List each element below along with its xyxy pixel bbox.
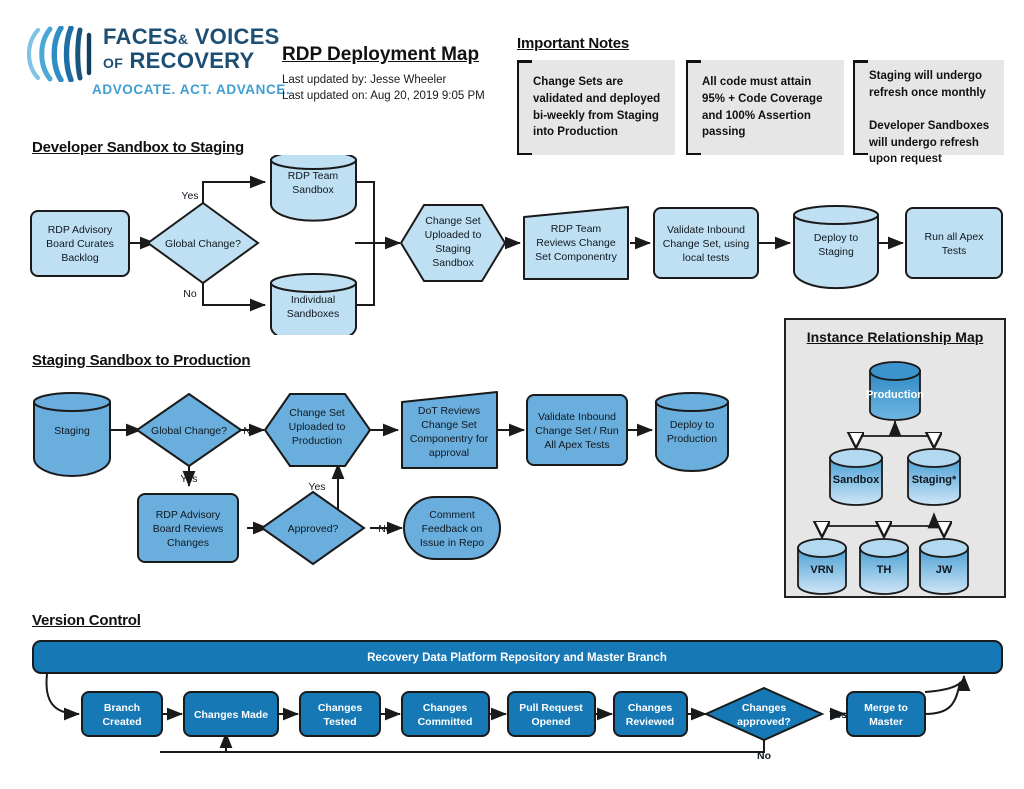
node-label: Validate Inbound xyxy=(667,224,745,236)
vc-node-label: Changes xyxy=(742,702,787,714)
svg-text:Master: Master xyxy=(869,716,903,728)
vc-node-label: Changes xyxy=(628,702,673,714)
last-updated-on: Last updated on: Aug 20, 2019 9:05 PM xyxy=(282,88,485,105)
logo-icon xyxy=(24,26,96,82)
node-rdp-team-sandbox[interactable]: RDP Team Sandbox xyxy=(271,155,356,221)
last-updated-by: Last updated by: Jesse Wheeler xyxy=(282,72,446,89)
svg-text:Created: Created xyxy=(102,716,141,728)
svg-text:Set Componentry: Set Componentry xyxy=(535,251,617,263)
vc-node-label: Changes Made xyxy=(194,709,268,721)
node-label: Approved? xyxy=(288,523,339,535)
svg-text:Production: Production xyxy=(667,433,717,445)
irm-node-vrn[interactable]: VRN xyxy=(798,539,846,594)
svg-text:local tests: local tests xyxy=(683,252,730,264)
edge-label-yes: Yes xyxy=(308,481,325,493)
vc-repo-bar[interactable]: Recovery Data Platform Repository and Ma… xyxy=(33,641,1002,673)
node-approved-decision[interactable]: Approved? xyxy=(262,492,364,564)
irm-node-label: Sandbox xyxy=(833,474,880,486)
node-validate-inbound-change-set[interactable]: Validate Inbound Change Set, using local… xyxy=(654,208,758,278)
page-title: RDP Deployment Map xyxy=(282,44,479,66)
svg-text:Staging: Staging xyxy=(435,243,471,255)
node-label: Deploy to xyxy=(814,232,859,244)
vc-node-changes-made[interactable]: Changes Made xyxy=(184,692,278,736)
svg-text:Change Set: Change Set xyxy=(421,419,477,431)
vc-edge-label-yes: Yes xyxy=(829,709,847,721)
svg-text:Changes: Changes xyxy=(167,537,209,549)
node-label: RDP Team xyxy=(551,223,602,235)
section1-flow: RDP Advisory Board Curates Backlog Globa… xyxy=(0,155,1024,335)
svg-text:Issue in Repo: Issue in Repo xyxy=(420,537,484,549)
node-change-set-uploaded-to-staging-sandbox[interactable]: Change Set Uploaded to Staging Sandbox xyxy=(401,205,505,281)
vc-node-changes-approved-decision[interactable]: Changes approved? xyxy=(706,688,822,740)
svg-text:Reviewed: Reviewed xyxy=(626,716,674,728)
irm-node-label: Staging* xyxy=(912,474,957,486)
node-individual-sandboxes[interactable]: Individual Sandboxes xyxy=(271,274,356,335)
vc-edge-label-no: No xyxy=(757,750,771,762)
note-card: All code must attain 95% + Code Coverage… xyxy=(686,60,844,155)
section-title-staging-sandbox-to-production: Staging Sandbox to Production xyxy=(32,352,250,369)
irm-node-label: VRN xyxy=(810,564,833,576)
vc-node-label: Changes xyxy=(318,702,363,714)
logo-faces: FACES xyxy=(103,24,178,49)
svg-text:approved?: approved? xyxy=(737,716,791,728)
irm-node-label: TH xyxy=(877,564,892,576)
logo-wordmark: FACES& VOICES OF RECOVERY xyxy=(103,26,293,73)
section2-flow: Staging Global Change? No Yes Change Set… xyxy=(0,372,780,597)
svg-text:Board Curates: Board Curates xyxy=(46,238,114,250)
svg-text:Sandbox: Sandbox xyxy=(292,184,334,196)
vc-node-changes-tested[interactable]: Changes Tested xyxy=(300,692,380,736)
edge-label-no: No xyxy=(378,523,392,535)
svg-text:Staging: Staging xyxy=(818,246,854,258)
note-text: Staging will undergo refresh once monthl… xyxy=(853,60,1004,155)
irm-node-sandbox[interactable]: Sandbox xyxy=(830,449,882,505)
svg-text:Uploaded to: Uploaded to xyxy=(289,421,346,433)
version-control-flow: Recovery Data Platform Repository and Ma… xyxy=(0,632,1024,787)
node-label: Global Change? xyxy=(165,238,241,250)
node-label: Global Change? xyxy=(151,425,227,437)
svg-text:Componentry for: Componentry for xyxy=(410,433,489,445)
node-label: Validate Inbound xyxy=(538,411,616,423)
svg-text:Change Set, using: Change Set, using xyxy=(663,238,750,250)
edge-label-yes: Yes xyxy=(181,190,198,202)
note-card: Staging will undergo refresh once monthl… xyxy=(853,60,1004,155)
svg-text:Opened: Opened xyxy=(531,716,570,728)
node-label: Run all Apex xyxy=(925,231,985,243)
logo-recovery: RECOVERY xyxy=(129,48,254,73)
note-text: All code must attain 95% + Code Coverage… xyxy=(686,60,844,155)
svg-text:Board Reviews: Board Reviews xyxy=(153,523,224,535)
svg-text:Sandbox: Sandbox xyxy=(432,257,474,269)
svg-text:Backlog: Backlog xyxy=(61,252,99,264)
node-global-change-decision[interactable]: Global Change? xyxy=(137,394,241,466)
irm-node-jw[interactable]: JW xyxy=(920,539,968,594)
irm-node-production[interactable]: Production xyxy=(866,362,924,420)
vc-node-changes-reviewed[interactable]: Changes Reviewed xyxy=(614,692,687,736)
irm-node-label: Production xyxy=(866,389,924,401)
node-deploy-to-staging[interactable]: Deploy to Staging xyxy=(794,206,878,288)
node-run-all-apex-tests[interactable]: Run all Apex Tests xyxy=(906,208,1002,278)
node-change-set-uploaded-to-production[interactable]: Change Set Uploaded to Production xyxy=(265,394,370,466)
vc-node-changes-committed[interactable]: Changes Committed xyxy=(402,692,489,736)
note-card: Change Sets are validated and deployed b… xyxy=(517,60,675,155)
svg-text:Change Set / Run: Change Set / Run xyxy=(535,425,619,437)
vc-node-label: Branch xyxy=(104,702,140,714)
irm-node-label: JW xyxy=(936,564,953,576)
edge-label-no: No xyxy=(183,288,197,300)
edge-label-no: No xyxy=(243,425,257,437)
node-rdp-advisory-board-reviews-changes[interactable]: RDP Advisory Board Reviews Changes xyxy=(138,494,238,562)
node-staging[interactable]: Staging xyxy=(34,393,110,476)
note-text: Change Sets are validated and deployed b… xyxy=(517,60,675,155)
node-label: Deploy to xyxy=(670,419,715,431)
vc-node-label: Changes xyxy=(423,702,468,714)
node-label: RDP Advisory xyxy=(48,224,113,236)
node-deploy-to-production[interactable]: Deploy to Production xyxy=(656,393,728,471)
vc-repo-bar-label: Recovery Data Platform Repository and Ma… xyxy=(367,652,667,664)
node-rdp-advisory-board-curates-backlog[interactable]: RDP Advisory Board Curates Backlog xyxy=(31,211,129,276)
node-label: Individual xyxy=(291,294,335,306)
logo-voices: VOICES xyxy=(195,24,280,49)
node-label: DoT Reviews xyxy=(418,405,480,417)
svg-text:Sandboxes: Sandboxes xyxy=(287,308,340,320)
svg-text:Production: Production xyxy=(292,435,342,447)
vc-node-pull-request-opened[interactable]: Pull Request Opened xyxy=(508,692,595,736)
section-title-developer-sandbox-to-staging: Developer Sandbox to Staging xyxy=(32,139,244,156)
node-comment-feedback-on-issue-in-repo[interactable]: Comment Feedback on Issue in Repo xyxy=(404,497,500,559)
svg-text:Tests: Tests xyxy=(942,245,967,257)
node-label: Change Set xyxy=(425,215,481,227)
vc-node-merge-to-master[interactable]: Merge to Master xyxy=(847,692,925,736)
node-rdp-team-reviews-change-set-componentry[interactable]: RDP Team Reviews Change Set Componentry xyxy=(524,207,628,279)
irm-node-staging[interactable]: Staging* xyxy=(908,449,960,505)
node-label: Comment xyxy=(429,509,475,521)
node-global-change-decision[interactable]: Global Change? xyxy=(148,203,258,283)
section-title-version-control: Version Control xyxy=(32,612,141,629)
node-label: Staging xyxy=(54,425,90,437)
node-dot-reviews-change-set-componentry[interactable]: DoT Reviews Change Set Componentry for a… xyxy=(402,392,497,468)
svg-text:Tested: Tested xyxy=(323,716,356,728)
node-validate-inbound-change-set-run-all-apex-tests[interactable]: Validate Inbound Change Set / Run All Ap… xyxy=(527,395,627,465)
edge-label-yes: Yes xyxy=(180,473,197,485)
node-label: Change Set xyxy=(289,407,345,419)
instance-relationship-map-diagram: Production Sandbox Staging* VRN TH JW xyxy=(784,318,1006,598)
logo-amp: & xyxy=(178,31,188,47)
svg-text:Feedback on: Feedback on xyxy=(422,523,483,535)
important-notes-title: Important Notes xyxy=(517,35,629,52)
irm-node-th[interactable]: TH xyxy=(860,539,908,594)
node-label: RDP Advisory xyxy=(156,509,221,521)
svg-text:All Apex Tests: All Apex Tests xyxy=(544,439,609,451)
logo-tagline: ADVOCATE. ACT. ADVANCE. xyxy=(92,82,290,97)
vc-node-label: Merge to xyxy=(864,702,908,714)
svg-text:Reviews Change: Reviews Change xyxy=(536,237,616,249)
svg-text:Committed: Committed xyxy=(418,716,473,728)
svg-text:Uploaded to: Uploaded to xyxy=(425,229,482,241)
svg-text:approval: approval xyxy=(429,447,469,459)
vc-node-label: Pull Request xyxy=(519,702,583,714)
logo-of: OF xyxy=(103,55,123,71)
vc-node-branch-created[interactable]: Branch Created xyxy=(82,692,162,736)
node-label: RDP Team xyxy=(288,170,339,182)
